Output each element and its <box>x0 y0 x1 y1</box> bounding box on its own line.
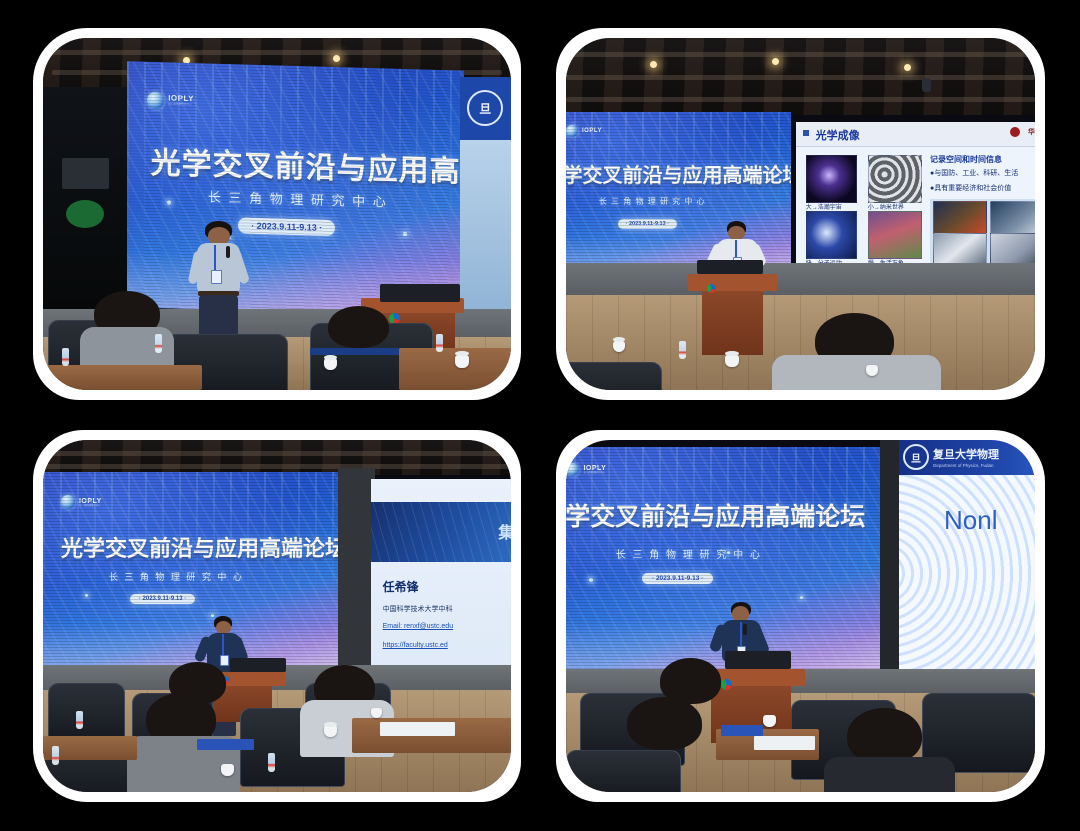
water-bottle <box>155 334 162 353</box>
tea-cup <box>324 725 337 737</box>
projection-slide-optical-imaging: 光学成像 华东 大→浩瀚宇宙 小→纳米世界 快→分子运动 慢→生活万象 记录空间… <box>796 122 1035 270</box>
audience-head <box>627 697 702 750</box>
ioply-logo: IOPLY <box>566 125 602 137</box>
laptop <box>230 658 286 672</box>
paper <box>754 736 815 750</box>
paper <box>197 739 253 750</box>
ioply-logo-sub: 长三角物理研究中心 <box>79 505 102 507</box>
slide-band-text: 集 <box>498 519 511 543</box>
slide-org-cn: 复旦大学物理 <box>933 446 999 462</box>
audience-head <box>328 306 389 348</box>
thumb-nano <box>868 155 922 203</box>
ceiling <box>566 38 1035 115</box>
speaker-name: 任希锋 <box>383 578 419 595</box>
podium <box>702 284 763 354</box>
slide-bullet: ●具有重要经济和社会价值 <box>930 183 1011 193</box>
water-bottle <box>52 746 59 765</box>
slide-title: 光学成像 <box>816 127 860 143</box>
water-bottle <box>679 341 686 359</box>
projection-slide-speaker-intro: 集 任希锋 中国科学技术大学中科 Email: renxf@ustc.edu h… <box>371 479 511 669</box>
tea-cup <box>613 341 625 352</box>
tea-cup <box>725 355 739 367</box>
ioply-logo-sub: 长三角物理研究中心 <box>168 104 194 107</box>
ioply-logo: IOPLY 长三角物理研究中心 <box>61 495 102 509</box>
water-bottle <box>436 334 443 352</box>
podium-logo <box>389 313 400 324</box>
tea-cup <box>324 358 337 370</box>
thumb-universe <box>806 155 858 203</box>
slide-heading: 记录空间和时间信息 <box>930 154 1002 165</box>
thumb-application <box>990 201 1035 234</box>
forum-date-badge: · 2023.9.11-9.13 · <box>130 594 195 604</box>
water-bottle <box>62 348 69 366</box>
fudan-university-seal: 旦 <box>467 90 503 126</box>
tea-cup <box>455 355 469 368</box>
ioply-logo: IOPLY 长三角物理研究中心 <box>147 92 194 110</box>
forum-date-badge: · 2023.9.11-9.13 · <box>642 573 713 584</box>
forum-date-badge: · 2023.9.11-9.13 · <box>618 219 677 229</box>
audience-body <box>772 355 941 390</box>
speaker-affiliation: 中国科学技术大学中科 <box>383 604 453 614</box>
laptop <box>380 284 460 302</box>
water-bottle <box>76 711 83 729</box>
speaker-email[interactable]: Email: renxf@ustc.edu <box>383 623 454 630</box>
audience-head <box>847 708 922 764</box>
photo-panel-top-left: IOPLY 长三角物理研究中心 光学交叉前沿与应用高端论坛 长 三 角 物 理 … <box>33 28 521 400</box>
thumb-life <box>868 211 922 259</box>
paper <box>380 722 455 736</box>
slide-org-badge: 华东 <box>1028 127 1035 137</box>
fudan-seal-panel: 旦 <box>460 77 511 140</box>
slide-org-en: Department of Physics, Fudan <box>933 463 999 468</box>
photo-panel-bottom-right: IOPLY 长三角物理研究中心 光学交叉前沿与应用高端论坛 长 三 角 物 理 … <box>556 430 1045 802</box>
ioply-logo: IOPLY 长三角物理研究中心 <box>566 463 606 476</box>
thumb-caption: 大→浩瀚宇宙 <box>806 202 842 211</box>
tea-cup <box>371 708 382 718</box>
photo-collage: IOPLY 长三角物理研究中心 光学交叉前沿与应用高端论坛 长 三 角 物 理 … <box>0 0 1080 831</box>
slide-title-fragment: Nonl <box>944 505 997 536</box>
forum-subtitle: 长 三 角 物 理 研 究 中 心 <box>599 196 706 207</box>
thumb-application <box>990 233 1035 266</box>
thumb-caption: 小→纳米世界 <box>868 202 904 211</box>
speaker-homepage[interactable]: https://faculty.ustc.ed <box>383 642 448 649</box>
microphone <box>743 624 747 635</box>
audience-body <box>824 757 955 792</box>
stage-front <box>566 263 1035 298</box>
projection-slide-fudan-physics: 旦 复旦大学物理 Department of Physics, Fudan No… <box>899 440 1035 672</box>
forum-main-title: 光学交叉前沿与应用高端论坛 <box>61 531 343 563</box>
paper <box>721 725 763 736</box>
forum-main-title: 光学交叉前沿与应用高端论坛 <box>566 497 865 533</box>
fudan-university-seal: 旦 <box>903 444 929 470</box>
photo-panel-top-right: IOPLY 光学交叉前沿与应用高端论坛 长 三 角 物 理 研 究 中 心 · … <box>556 28 1045 400</box>
ioply-logo-sub: 长三角物理研究中心 <box>583 472 606 474</box>
microphone <box>226 246 230 258</box>
ceiling <box>43 440 511 475</box>
ioply-logo-word: IOPLY <box>582 128 602 134</box>
laptop <box>697 260 763 274</box>
slide-bullet: ●与国防、工业、科研、生活 <box>930 168 1018 178</box>
tea-cup <box>221 764 234 776</box>
laptop <box>725 651 791 669</box>
table <box>43 365 202 390</box>
name-badge <box>211 270 222 284</box>
chair <box>566 362 662 390</box>
photo-panel-bottom-left: IOPLY 长三角物理研究中心 光学交叉前沿与应用高端论坛 长 三 角 物 理 … <box>33 430 521 802</box>
thumb-application <box>933 201 987 234</box>
thumb-application <box>933 233 987 266</box>
forum-main-title: 光学交叉前沿与应用高端论坛 <box>566 159 791 188</box>
thumb-molecule <box>806 211 858 259</box>
tea-cup <box>763 715 776 727</box>
forum-subtitle: 长 三 角 物 理 研 究 中 心 <box>109 570 244 583</box>
forum-subtitle: 长 三 角 物 理 研 究 中 心 <box>616 546 762 561</box>
chair <box>566 750 681 792</box>
water-bottle <box>268 753 275 772</box>
